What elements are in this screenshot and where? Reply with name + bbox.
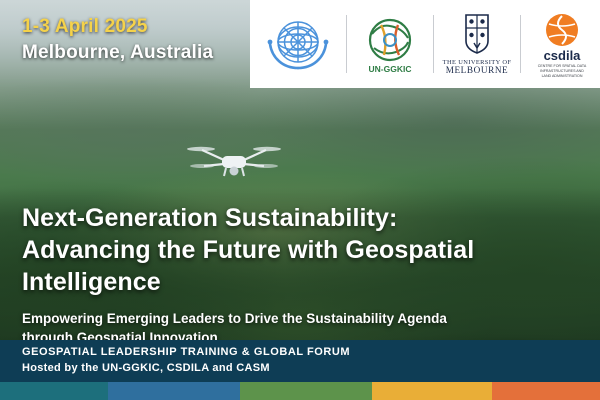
united-nations-logo xyxy=(250,0,346,88)
headline-line-2: Advancing the Future with Geospatial xyxy=(22,234,578,266)
csdila-logo: csdila CENTRE FOR SPATIAL DATA INFRASTRU… xyxy=(521,0,600,88)
strip-segment-blue xyxy=(108,382,240,400)
headline-line-1: Next-Generation Sustainability: xyxy=(22,202,578,234)
subhead-line-1: Empowering Emerging Leaders to Drive the… xyxy=(22,310,578,329)
csdila-logo-sub2: INFRASTRUCTURES AND xyxy=(540,69,584,73)
csdila-logo-sub3: LAND ADMINISTRATION xyxy=(542,74,583,78)
un-ggkic-logo: UN-GGKIC xyxy=(347,0,433,88)
headline-block: Next-Generation Sustainability: Advancin… xyxy=(0,188,600,353)
logo-bar: UN-GGKIC THE UNIVERSITY OF MELBOURNE xyxy=(250,0,600,88)
strip-segment-orange xyxy=(492,382,600,400)
event-date: 1-3 April 2025 xyxy=(22,14,213,40)
event-location: Melbourne, Australia xyxy=(22,40,213,66)
university-of-melbourne-logo: THE UNIVERSITY OF MELBOURNE xyxy=(434,0,520,88)
footer-band: GEOSPATIAL LEADERSHIP TRAINING & GLOBAL … xyxy=(0,340,600,382)
footer-line-2: Hosted by the UN-GGKIC, CSDILA and CASM xyxy=(22,361,350,377)
csdila-logo-name: csdila xyxy=(544,48,582,63)
event-date-location: 1-3 April 2025 Melbourne, Australia xyxy=(22,14,213,65)
headline-line-3: Intelligence xyxy=(22,266,578,298)
unimelb-logo-line2: MELBOURNE xyxy=(446,65,509,75)
event-poster: 1-3 April 2025 Melbourne, Australia xyxy=(0,0,600,400)
un-ggkic-logo-label: UN-GGKIC xyxy=(369,64,412,74)
drone-icon xyxy=(186,138,282,187)
strip-segment-teal xyxy=(0,382,108,400)
footer-line-1: GEOSPATIAL LEADERSHIP TRAINING & GLOBAL … xyxy=(22,345,350,361)
strip-segment-yellow xyxy=(372,382,492,400)
strip-segment-green xyxy=(240,382,372,400)
color-strip xyxy=(0,382,600,400)
csdila-logo-sub1: CENTRE FOR SPATIAL DATA xyxy=(538,64,587,68)
